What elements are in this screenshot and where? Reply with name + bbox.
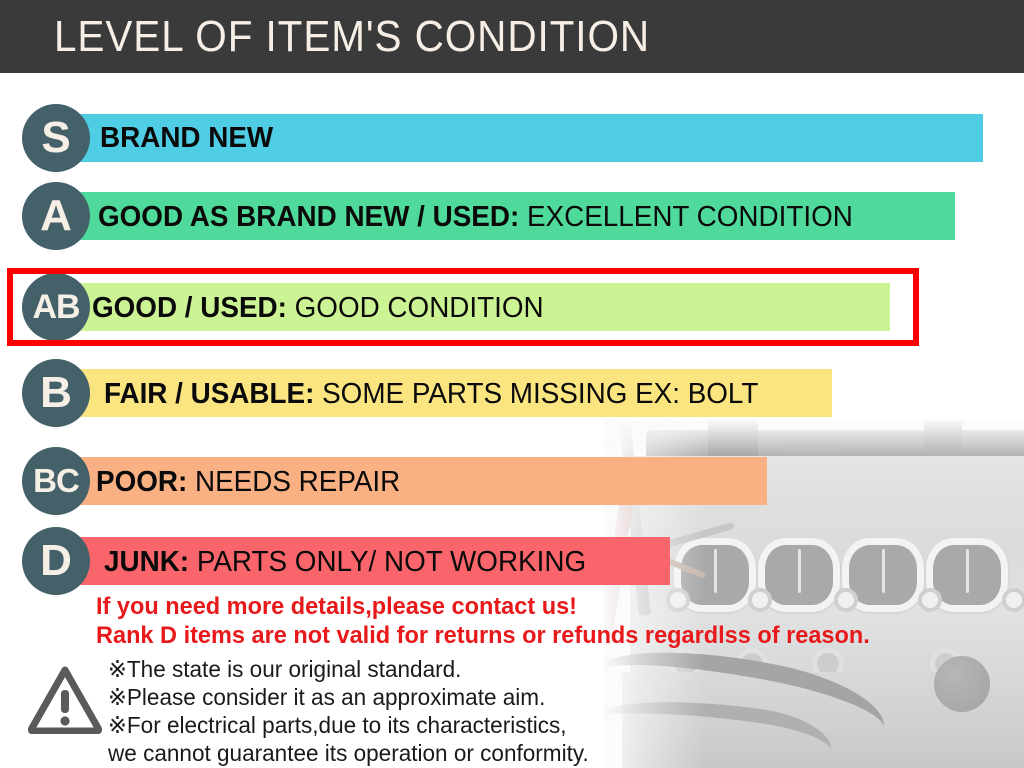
note-line: ※Please consider it as an approximate ai… bbox=[108, 683, 589, 711]
rank-badge-label: A bbox=[40, 194, 72, 238]
rank-plain-text: SOME PARTS MISSING EX: BOLT bbox=[314, 378, 758, 410]
rank-badge-label: B bbox=[40, 371, 72, 415]
rank-plain-text: NEEDS REPAIR bbox=[187, 466, 400, 498]
note-line: we cannot guarantee its operation or con… bbox=[108, 739, 589, 767]
rank-d-policy-notice-line: Rank D items are not valid for returns o… bbox=[96, 622, 870, 650]
contact-notice-line: If you need more details,please contact … bbox=[96, 593, 577, 621]
rank-text-s: BRAND NEW bbox=[100, 123, 273, 153]
rank-badge-label: S bbox=[41, 116, 70, 160]
rank-bold-text: POOR: bbox=[96, 466, 187, 498]
condition-chart-slide: LEVEL OF ITEM'S CONDITION S BRAND NEW A … bbox=[0, 0, 1024, 768]
rank-bold-text: JUNK: bbox=[104, 546, 189, 578]
page-title: LEVEL OF ITEM'S CONDITION bbox=[54, 9, 650, 65]
rank-plain-text: PARTS ONLY/ NOT WORKING bbox=[189, 546, 586, 578]
rank-bold-text: BRAND NEW bbox=[100, 122, 273, 154]
rank-bold-text: FAIR / USABLE: bbox=[104, 378, 314, 410]
rank-badge-d: D bbox=[22, 527, 90, 595]
rank-plain-text: EXCELLENT CONDITION bbox=[519, 201, 853, 233]
rank-badge-bc: BC bbox=[22, 447, 90, 515]
rank-text-a: GOOD AS BRAND NEW / USED: EXCELLENT COND… bbox=[98, 202, 853, 232]
disclaimer-notes: ※The state is our original standard. ※Pl… bbox=[108, 655, 589, 767]
warning-triangle-icon bbox=[28, 664, 102, 734]
rank-badge-label: D bbox=[40, 539, 72, 583]
rank-badge-a: A bbox=[22, 182, 90, 250]
note-line: ※For electrical parts,due to its charact… bbox=[108, 711, 589, 739]
rank-badge-s: S bbox=[22, 104, 90, 172]
rank-text-b: FAIR / USABLE: SOME PARTS MISSING EX: BO… bbox=[104, 379, 758, 409]
rank-bold-text: GOOD AS BRAND NEW / USED: bbox=[98, 201, 519, 233]
title-bar: LEVEL OF ITEM'S CONDITION bbox=[0, 0, 1024, 73]
rank-text-d: JUNK: PARTS ONLY/ NOT WORKING bbox=[104, 547, 586, 577]
rank-text-bc: POOR: NEEDS REPAIR bbox=[96, 467, 400, 497]
selected-rank-highlight-box bbox=[7, 268, 919, 346]
note-line: ※The state is our original standard. bbox=[108, 655, 589, 683]
rank-badge-label: BC bbox=[33, 459, 79, 503]
rank-badge-b: B bbox=[22, 359, 90, 427]
